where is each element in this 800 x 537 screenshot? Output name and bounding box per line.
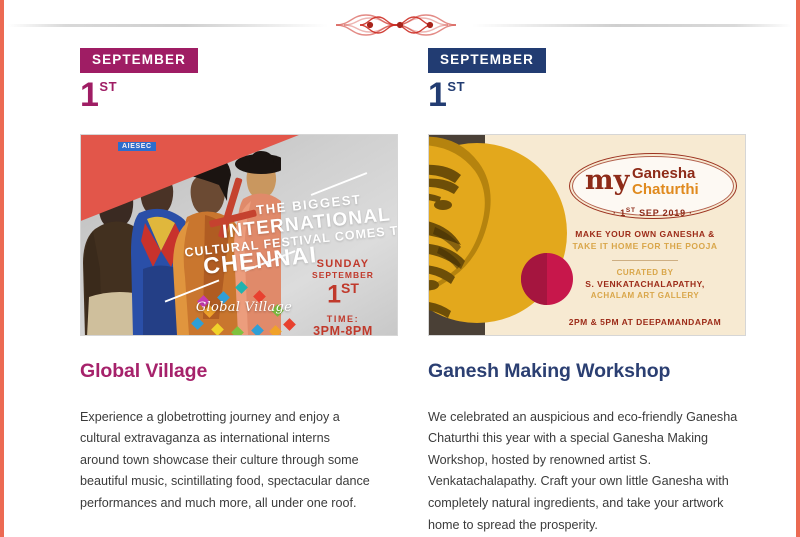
poster-detail-divider: [612, 260, 678, 261]
page-frame: SEPTEMBER 1ST: [0, 0, 800, 537]
event-title[interactable]: Ganesh Making Workshop: [428, 360, 744, 383]
logo-chaturthi-text: Chaturthi: [632, 182, 699, 198]
poster-detail-line-2: TAKE IT HOME FOR THE POOJA: [555, 241, 735, 251]
poster-details-block: MAKE YOUR OWN GANESHA & TAKE IT HOME FOR…: [555, 229, 735, 327]
logo-my-text: my: [585, 167, 629, 194]
kite-shape: [251, 324, 264, 336]
poster-detail-line-1: MAKE YOUR OWN GANESHA &: [555, 229, 735, 239]
poster-venue-time: 2PM & 5PM AT DEEPAMANDAPAM: [555, 317, 735, 327]
event-card-ganesh-workshop[interactable]: SEPTEMBER 1ST: [400, 48, 792, 536]
kite-shape: [235, 281, 248, 294]
ornamental-divider: [8, 9, 792, 41]
event-day-number: 1ST: [428, 78, 744, 112]
logo-ganesha-text: Ganesha: [632, 166, 695, 182]
day-ordinal: ST: [447, 79, 465, 94]
poster-schedule-block: SUNDAY SEPTEMBER 1ST TIME: 3PM-8PM: [297, 259, 389, 336]
logo-date-ordinal: ST: [626, 207, 636, 214]
divider-rule-left: [8, 24, 328, 27]
day-value: 1: [428, 76, 446, 114]
my-ganesha-chaturthi-logo: my Ganesha Chaturthi · 1ST SEP 2019 ·: [569, 153, 737, 219]
global-village-logo: Global Village: [189, 283, 299, 336]
kite-shape: [283, 318, 296, 331]
day-ordinal: ST: [99, 79, 117, 94]
ganesha-statue-photo: [428, 135, 527, 336]
event-month-badge: SEPTEMBER: [428, 48, 546, 73]
event-card-global-village[interactable]: SEPTEMBER 1ST: [8, 48, 400, 536]
kite-shape: [231, 326, 244, 336]
event-description: We celebrated an auspicious and eco-frie…: [428, 407, 744, 537]
poster-day-ordinal: ST: [341, 280, 359, 296]
event-day-number: 1ST: [80, 78, 372, 112]
logo-date-prefix: · 1: [613, 208, 626, 218]
poster-gallery-name: ACHALAM ART GALLERY: [555, 291, 735, 300]
logo-date-suffix: SEP 2019 ·: [636, 208, 693, 218]
event-description: Experience a globetrotting journey and e…: [80, 407, 372, 515]
event-month-badge: SEPTEMBER: [80, 48, 198, 73]
poster-month: SEPTEMBER: [297, 271, 389, 280]
triple-eye-ornament-icon: [330, 9, 470, 41]
poster-curated-label: CURATED BY: [555, 268, 735, 277]
event-poster-image[interactable]: AIESEC THE BIGGEST INTERNATIONAL CULTURA…: [80, 134, 398, 336]
kite-shape: [211, 323, 224, 336]
divider-rule-right: [472, 24, 792, 27]
event-poster-image[interactable]: my Ganesha Chaturthi · 1ST SEP 2019 · MA…: [428, 134, 746, 336]
poster-time-label: TIME:: [297, 315, 389, 324]
poster-weekday: SUNDAY: [297, 259, 389, 271]
poster-curator-name: S. VENKATACHALAPATHY,: [555, 279, 735, 289]
page-inner: SEPTEMBER 1ST: [8, 0, 792, 537]
kite-shape: [191, 317, 204, 330]
logo-date-text: · 1ST SEP 2019 ·: [569, 207, 737, 218]
poster-time-value: 3PM-8PM: [297, 325, 389, 336]
event-card-grid: SEPTEMBER 1ST: [8, 48, 792, 536]
day-value: 1: [80, 76, 98, 114]
global-village-logo-text: Global Village: [189, 300, 299, 315]
poster-day-value: 1: [327, 280, 341, 308]
kite-shape: [269, 325, 282, 336]
event-title[interactable]: Global Village: [80, 360, 372, 383]
poster-day-number: 1ST: [297, 281, 389, 308]
